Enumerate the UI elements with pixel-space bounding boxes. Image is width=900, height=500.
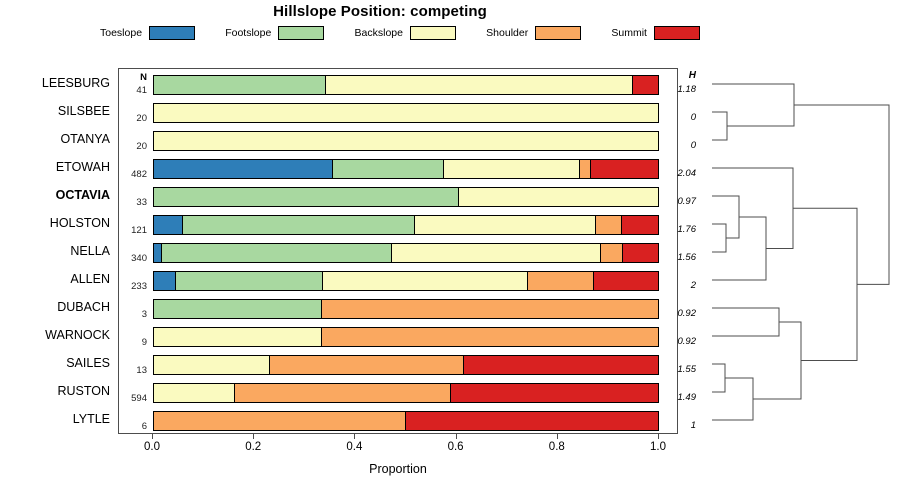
bar-segment-backslope[interactable]: [459, 188, 658, 206]
bar-segment-shoulder[interactable]: [322, 328, 658, 346]
dendrogram-link: [712, 378, 753, 420]
bar-segment-backslope[interactable]: [323, 272, 528, 290]
chart-row: 482: [119, 155, 679, 183]
category-label-sailes: SAILES: [0, 356, 110, 370]
bar-segment-backslope[interactable]: [154, 132, 658, 150]
bar-segment-backslope[interactable]: [392, 244, 601, 262]
category-label-octavia: OCTAVIA: [0, 188, 110, 202]
chart-row: 9: [119, 323, 679, 351]
category-label-allen: ALLEN: [0, 272, 110, 286]
x-axis-tick: [152, 434, 153, 439]
dendrogram-link: [712, 224, 726, 252]
category-label-otanya: OTANYA: [0, 132, 110, 146]
bar-segment-backslope[interactable]: [415, 216, 597, 234]
bar-segment-footslope[interactable]: [183, 216, 415, 234]
bar-segment-footslope[interactable]: [154, 188, 459, 206]
stacked-bar[interactable]: [153, 411, 659, 431]
legend-item-label: Toeslope: [100, 27, 142, 39]
plot-area: N4120204823312134023339135946: [118, 68, 678, 434]
bar-segment-toeslope[interactable]: [154, 216, 183, 234]
h-value: 0: [662, 140, 696, 152]
bar-segment-footslope[interactable]: [333, 160, 444, 178]
category-label-nella: NELLA: [0, 244, 110, 258]
legend-item-shoulder[interactable]: Shoulder: [486, 26, 581, 40]
category-label-warnock: WARNOCK: [0, 328, 110, 342]
bar-segment-backslope[interactable]: [154, 328, 322, 346]
h-value: 1.56: [662, 252, 696, 264]
n-value: 9: [117, 337, 147, 348]
legend-item-label: Backslope: [355, 27, 403, 39]
n-value: 33: [117, 197, 147, 208]
chart-row: 33: [119, 183, 679, 211]
x-axis-tick-label: 0.0: [132, 441, 172, 453]
legend-item-footslope[interactable]: Footslope: [225, 26, 324, 40]
n-value: 41: [117, 85, 147, 96]
chart-row: 20: [119, 99, 679, 127]
stacked-bar[interactable]: [153, 299, 659, 319]
bar-segment-toeslope[interactable]: [154, 160, 333, 178]
x-axis-title: Proportion: [118, 462, 678, 476]
x-axis-tick-label: 0.2: [233, 441, 273, 453]
bar-segment-shoulder[interactable]: [322, 300, 658, 318]
h-value: 1.18: [662, 84, 696, 96]
x-axis-tick: [354, 434, 355, 439]
dendrogram-link: [794, 105, 889, 284]
bar-segment-summit[interactable]: [464, 356, 658, 374]
bar-segment-toeslope[interactable]: [154, 272, 176, 290]
diversity-index-column: H1.18002.040.971.761.5620.920.921.551.49…: [662, 68, 702, 434]
stacked-bar[interactable]: [153, 103, 659, 123]
stacked-bar[interactable]: [153, 187, 659, 207]
bar-segment-summit[interactable]: [591, 160, 658, 178]
bar-segment-shoulder[interactable]: [528, 272, 594, 290]
n-value: 20: [117, 113, 147, 124]
legend-swatch-summit: [654, 26, 700, 40]
bar-segment-summit[interactable]: [623, 244, 658, 262]
legend-swatch-footslope: [278, 26, 324, 40]
chart-row: 121: [119, 211, 679, 239]
bar-segment-shoulder[interactable]: [580, 160, 592, 178]
bar-segment-shoulder[interactable]: [270, 356, 464, 374]
n-value: 340: [117, 253, 147, 264]
category-label-silsbee: SILSBEE: [0, 104, 110, 118]
n-value: 482: [117, 169, 147, 180]
bar-segment-summit[interactable]: [406, 412, 658, 430]
dendrogram-link: [753, 322, 801, 399]
dendrogram-link: [793, 208, 857, 360]
chart-row: 41: [119, 71, 679, 99]
stacked-bar[interactable]: [153, 131, 659, 151]
bar-segment-footslope[interactable]: [176, 272, 323, 290]
h-value: 1.76: [662, 224, 696, 236]
legend-item-label: Footslope: [225, 27, 271, 39]
bar-segment-shoulder[interactable]: [235, 384, 452, 402]
h-value: 1.55: [662, 364, 696, 376]
bar-segment-backslope[interactable]: [326, 76, 633, 94]
category-label-dubach: DUBACH: [0, 300, 110, 314]
h-value: 0.92: [662, 336, 696, 348]
bar-segment-backslope[interactable]: [154, 356, 270, 374]
bar-segment-backslope[interactable]: [444, 160, 580, 178]
bar-segment-summit[interactable]: [594, 272, 658, 290]
chart-row: 6: [119, 407, 679, 435]
stacked-bar[interactable]: [153, 327, 659, 347]
dendrogram-svg: [700, 60, 900, 440]
chart-row: 340: [119, 239, 679, 267]
bar-segment-toeslope[interactable]: [154, 244, 162, 262]
bar-segment-shoulder[interactable]: [601, 244, 623, 262]
n-value: 3: [117, 309, 147, 320]
bar-segment-summit[interactable]: [622, 216, 658, 234]
h-value: 0.97: [662, 196, 696, 208]
dendrogram-link: [712, 112, 727, 140]
x-axis-tick-label: 0.6: [436, 441, 476, 453]
h-value: 0.92: [662, 308, 696, 320]
stacked-bar[interactable]: [153, 215, 659, 235]
legend-item-label: Shoulder: [486, 27, 528, 39]
chart-row: 20: [119, 127, 679, 155]
bar-segment-summit[interactable]: [633, 76, 658, 94]
chart-row: 13: [119, 351, 679, 379]
category-axis-labels: LEESBURGSILSBEEOTANYAETOWAHOCTAVIAHOLSTO…: [0, 68, 114, 434]
bar-segment-shoulder[interactable]: [154, 412, 406, 430]
dendrogram-link: [712, 168, 793, 249]
legend-swatch-toeslope: [149, 26, 195, 40]
h-value: 0: [662, 112, 696, 124]
category-label-holston: HOLSTON: [0, 216, 110, 230]
chart-row: 594: [119, 379, 679, 407]
category-label-leesburg: LEESBURG: [0, 76, 110, 90]
page-title: Hillslope Position: competing: [0, 3, 760, 20]
legend-item-toeslope[interactable]: Toeslope: [100, 26, 195, 40]
category-label-ruston: RUSTON: [0, 384, 110, 398]
x-axis-tick-label: 1.0: [638, 441, 678, 453]
x-axis-tick: [658, 434, 659, 439]
dendrogram-link: [712, 364, 725, 392]
x-axis-tick-label: 0.8: [537, 441, 577, 453]
stacked-bar[interactable]: [153, 159, 659, 179]
bar-segment-shoulder[interactable]: [596, 216, 621, 234]
x-axis-tick-label: 0.4: [334, 441, 374, 453]
h-value: 2: [662, 280, 696, 292]
bar-segment-backslope[interactable]: [154, 384, 235, 402]
dendrogram-link: [712, 84, 794, 126]
chart-row: 233: [119, 267, 679, 295]
x-axis-tick: [253, 434, 254, 439]
legend-swatch-shoulder: [535, 26, 581, 40]
n-value: 233: [117, 281, 147, 292]
legend-item-summit[interactable]: Summit: [611, 26, 700, 40]
n-value: 20: [117, 141, 147, 152]
x-axis-tick: [456, 434, 457, 439]
bar-segment-backslope[interactable]: [154, 104, 658, 122]
bar-segment-summit[interactable]: [451, 384, 658, 402]
chart-row: 3: [119, 295, 679, 323]
h-value: 1.49: [662, 392, 696, 404]
stacked-bar[interactable]: [153, 75, 659, 95]
stacked-bar[interactable]: [153, 383, 659, 403]
h-value: 2.04: [662, 168, 696, 180]
bar-segment-footslope[interactable]: [154, 76, 326, 94]
n-value: 6: [117, 421, 147, 432]
category-label-etowah: ETOWAH: [0, 160, 110, 174]
n-value: 121: [117, 225, 147, 236]
dendrogram: [700, 60, 900, 440]
legend: ToeslopeFootslopeBackslopeShoulderSummit: [100, 24, 700, 42]
x-axis-tick: [557, 434, 558, 439]
legend-item-label: Summit: [611, 27, 647, 39]
stacked-bar[interactable]: [153, 355, 659, 375]
dendrogram-link: [712, 308, 779, 336]
bar-segment-footslope[interactable]: [162, 244, 392, 262]
h-column-header: H: [662, 70, 696, 81]
n-value: 594: [117, 393, 147, 404]
bar-segment-footslope[interactable]: [154, 300, 322, 318]
n-value: 13: [117, 365, 147, 376]
value-axis: 0.00.20.40.60.81.0: [118, 434, 678, 454]
h-value: 1: [662, 420, 696, 432]
stacked-bar[interactable]: [153, 243, 659, 263]
legend-item-backslope[interactable]: Backslope: [355, 26, 456, 40]
stacked-bar[interactable]: [153, 271, 659, 291]
category-label-lytle: LYTLE: [0, 412, 110, 426]
legend-swatch-backslope: [410, 26, 456, 40]
